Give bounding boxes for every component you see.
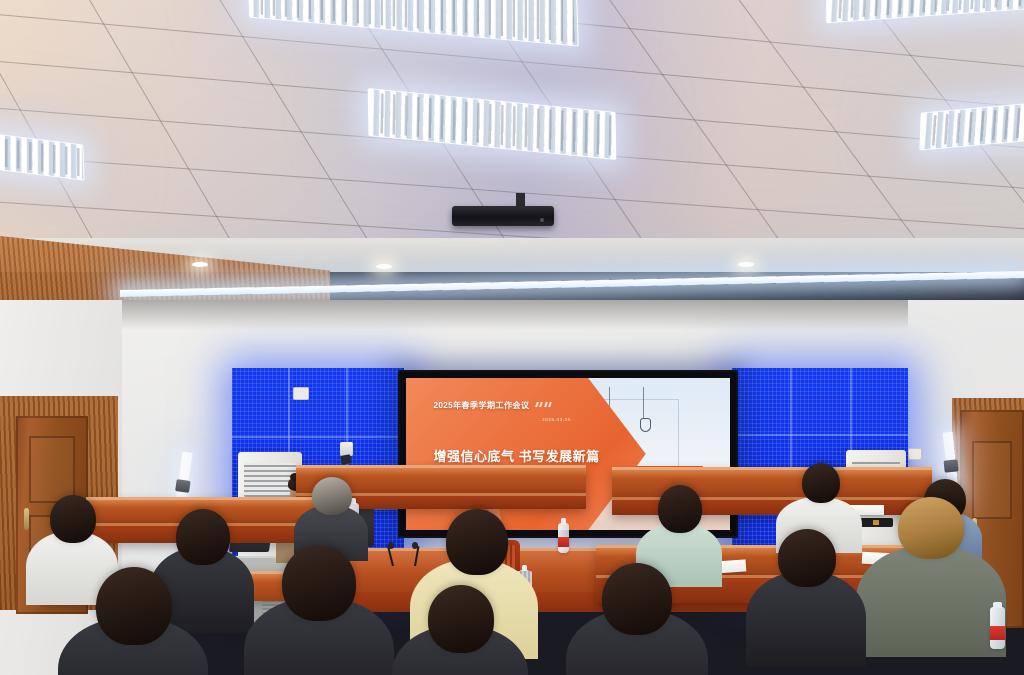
- slide-header-text: 2025年春季学期工作会议: [434, 399, 530, 411]
- audience-person-head: [282, 545, 356, 621]
- downlight: [738, 262, 754, 267]
- wall-shadow: [118, 300, 908, 330]
- audience-desk: [612, 467, 932, 499]
- audience-person-head: [658, 485, 702, 533]
- audience-person-head: [176, 509, 230, 565]
- slide-date: 2025.03.05: [542, 417, 571, 422]
- wall-control-plate[interactable]: [293, 387, 309, 400]
- audience-person-head: [802, 463, 840, 503]
- audience-area: [0, 475, 1024, 675]
- camera-lens-icon: [340, 454, 351, 465]
- slide-main-title: 增强信心底气 书写发展新篇: [434, 446, 600, 465]
- water-bottle: [558, 523, 569, 553]
- audience-person-head: [50, 495, 96, 543]
- audience-person-head: [602, 563, 672, 635]
- wall-control-plate[interactable]: [908, 448, 922, 460]
- audience-person-head: [446, 509, 508, 575]
- ceiling-speaker: [452, 206, 554, 226]
- conference-room-scene: 2025年春季学期工作会议 2025.03.05 增强信心底气 书写发展新篇 汇…: [0, 0, 1024, 675]
- downlight: [192, 262, 208, 267]
- audience-person-head: [312, 477, 352, 515]
- slide-decor-dots: [536, 402, 551, 407]
- audience-person-head: [778, 529, 836, 587]
- downlight: [376, 264, 392, 269]
- audience-person-body: [856, 545, 1006, 657]
- water-bottle: [990, 607, 1005, 649]
- audience-person-head: [428, 585, 494, 653]
- audience-person-head: [96, 567, 172, 645]
- audience-person-head: [898, 497, 964, 559]
